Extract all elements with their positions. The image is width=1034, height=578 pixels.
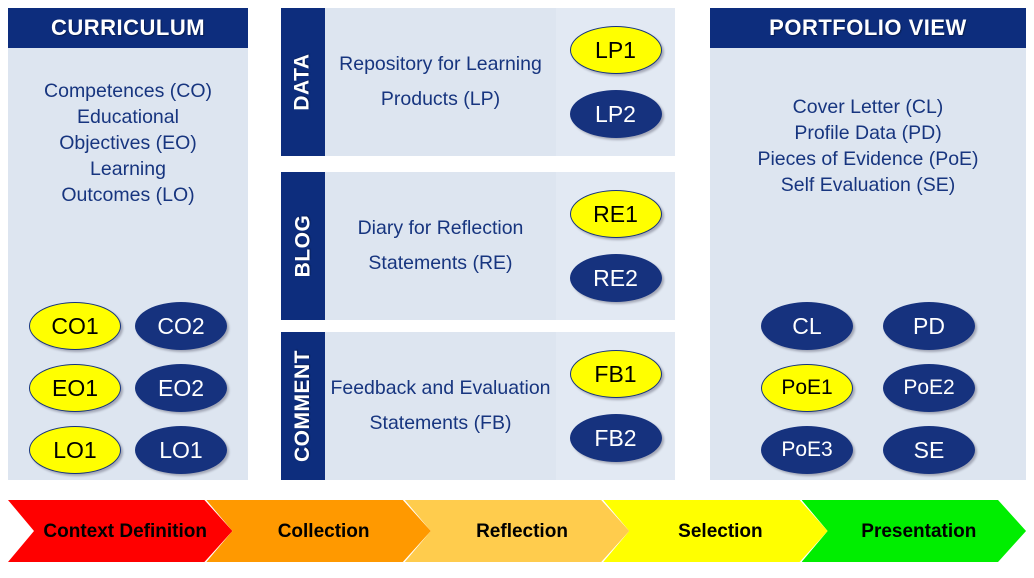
- badge-co1[interactable]: CO1: [29, 302, 121, 350]
- tab-label: BLOG: [291, 215, 315, 278]
- curriculum-panel: CURRICULUM Competences (CO)EducationalOb…: [8, 8, 248, 480]
- middle-group-data: DATARepository for Learning Products (LP…: [281, 8, 675, 156]
- portfolio-text-line: Pieces of Evidence (PoE): [710, 146, 1026, 172]
- curriculum-badge-grid: CO1CO2EO1EO2LO1LO1: [8, 302, 248, 474]
- middle-group-blog: BLOGDiary for Reflection Statements (RE)…: [281, 172, 675, 320]
- process-flow-bar: Context DefinitionCollectionReflectionSe…: [8, 500, 1026, 562]
- badge-cl[interactable]: CL: [761, 302, 853, 350]
- curriculum-text-line: Competences (CO): [8, 78, 248, 104]
- curriculum-text-line: Outcomes (LO): [8, 182, 248, 208]
- middle-group-badges: FB1FB2: [556, 332, 675, 480]
- badge-lp2[interactable]: LP2: [570, 90, 662, 138]
- middle-group-description: Diary for Reflection Statements (RE): [325, 172, 556, 320]
- middle-group-comment: COMMENTFeedback and Evaluation Statement…: [281, 332, 675, 480]
- tab-label: COMMENT: [291, 350, 315, 462]
- badge-poe3[interactable]: PoE3: [761, 426, 853, 474]
- badge-eo1[interactable]: EO1: [29, 364, 121, 412]
- curriculum-description: Competences (CO)EducationalObjectives (E…: [8, 78, 248, 208]
- portfolio-description: Cover Letter (CL)Profile Data (PD)Pieces…: [710, 94, 1026, 198]
- curriculum-text-line: Learning: [8, 156, 248, 182]
- badge-eo2[interactable]: EO2: [135, 364, 227, 412]
- badge-pd[interactable]: PD: [883, 302, 975, 350]
- portfolio-panel: PORTFOLIO VIEW Cover Letter (CL)Profile …: [710, 8, 1026, 480]
- curriculum-header: CURRICULUM: [8, 8, 248, 48]
- portfolio-text-line: Profile Data (PD): [710, 120, 1026, 146]
- process-step-label: Presentation: [851, 521, 976, 542]
- process-step-label: Context Definition: [33, 521, 207, 542]
- badge-poe2[interactable]: PoE2: [883, 364, 975, 412]
- process-step-collection[interactable]: Collection: [206, 500, 430, 562]
- tab-blog[interactable]: BLOG: [281, 172, 325, 320]
- badge-se[interactable]: SE: [883, 426, 975, 474]
- tab-data[interactable]: DATA: [281, 8, 325, 156]
- badge-lp1[interactable]: LP1: [570, 26, 662, 74]
- middle-group-badges: LP1LP2: [556, 8, 675, 156]
- portfolio-text-line: Self Evaluation (SE): [710, 172, 1026, 198]
- process-step-context-definition[interactable]: Context Definition: [8, 500, 232, 562]
- badge-fb1[interactable]: FB1: [570, 350, 662, 398]
- badge-re1[interactable]: RE1: [570, 190, 662, 238]
- portfolio-badge-grid: CLPDPoE1PoE2PoE3SE: [710, 302, 1026, 474]
- badge-poe1[interactable]: PoE1: [761, 364, 853, 412]
- curriculum-text-line: Educational: [8, 104, 248, 130]
- middle-group-description: Feedback and Evaluation Statements (FB): [325, 332, 556, 480]
- process-step-selection[interactable]: Selection: [603, 500, 827, 562]
- curriculum-text-line: Objectives (EO): [8, 130, 248, 156]
- process-step-presentation[interactable]: Presentation: [802, 500, 1026, 562]
- badge-lo1[interactable]: LO1: [135, 426, 227, 474]
- middle-group-badges: RE1RE2: [556, 172, 675, 320]
- process-step-label: Selection: [668, 521, 762, 542]
- badge-co2[interactable]: CO2: [135, 302, 227, 350]
- badge-lo1[interactable]: LO1: [29, 426, 121, 474]
- tab-comment[interactable]: COMMENT: [281, 332, 325, 480]
- badge-re2[interactable]: RE2: [570, 254, 662, 302]
- process-step-reflection[interactable]: Reflection: [405, 500, 629, 562]
- tab-label: DATA: [291, 53, 315, 110]
- portfolio-header: PORTFOLIO VIEW: [710, 8, 1026, 48]
- process-step-label: Reflection: [466, 521, 568, 542]
- middle-group-description: Repository for Learning Products (LP): [325, 8, 556, 156]
- portfolio-text-line: Cover Letter (CL): [710, 94, 1026, 120]
- badge-fb2[interactable]: FB2: [570, 414, 662, 462]
- process-step-label: Collection: [268, 521, 370, 542]
